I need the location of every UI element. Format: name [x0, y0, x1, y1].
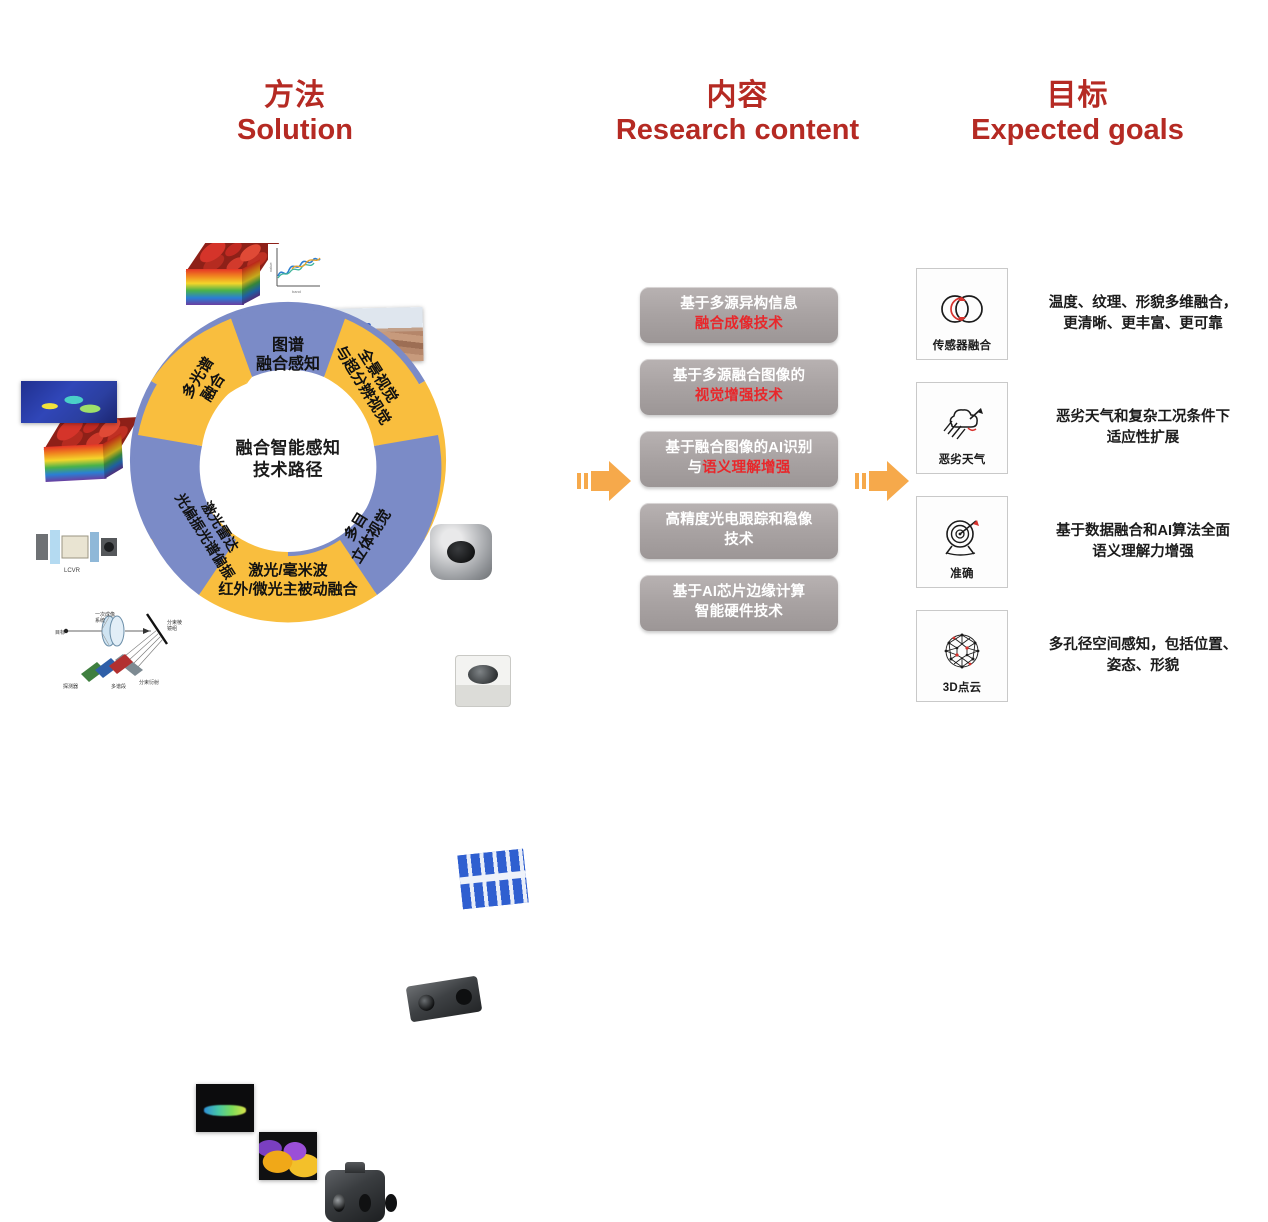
research-box-3-line2-prefix: 与 [688, 460, 703, 476]
gimbal-eo-ir-turret [325, 1170, 385, 1222]
sensor-fusion-icon [936, 278, 988, 341]
optical-lab-instrument [455, 655, 511, 707]
goal-desc-sensor-fusion: 温度、纹理、形貌多维融合， 更清晰、更丰富、更可靠 [1008, 293, 1256, 334]
goal-desc-4-line1: 多孔径空间感知，包括位置、 [1049, 637, 1238, 653]
column-header-solution-en: Solution [165, 113, 425, 147]
column-header-goals-en: Expected goals [945, 113, 1210, 147]
research-box-3-line1: 基于融合图像的AI识别 [665, 440, 812, 456]
donut-center-label: 融合智能感知 技术路径 [198, 438, 378, 483]
spectral-curve-plot: value band [268, 244, 324, 296]
goal-row-sensor-fusion: 传感器融合 温度、纹理、形貌多维融合， 更清晰、更丰富、更可靠 [916, 268, 1256, 360]
arrow-solution-to-content [575, 458, 633, 504]
donut-center-line2: 技术路径 [198, 460, 378, 482]
donut-label-tupu-line2: 融合感知 [256, 354, 320, 373]
research-content-list: 基于多源异构信息 融合成像技术 基于多源融合图像的 视觉增强技术 基于融合图像的… [640, 287, 838, 647]
goal-card-caption: 传感器融合 [933, 341, 992, 353]
svg-text:分束衍射: 分束衍射 [139, 679, 159, 686]
goal-card-caption: 恶劣天气 [939, 455, 986, 467]
polarization-optics-assembly: LCVR [30, 520, 124, 574]
stereo-camera-bar [406, 976, 483, 1023]
donut-label-tupu-line1: 图谱 [272, 335, 304, 354]
column-header-goals: 目标 Expected goals [945, 78, 1210, 148]
blue-microchip-array [457, 849, 528, 910]
hyperspectral-cube-top [186, 243, 260, 305]
research-box-3-line2: 语义理解增强 [702, 460, 790, 476]
svg-text:LCVR: LCVR [64, 568, 81, 574]
goal-desc-2-line2: 适应性扩展 [1107, 430, 1180, 446]
research-box-4-line1: 高精度光电跟踪和稳像 [666, 512, 813, 528]
column-header-solution-cn: 方法 [165, 78, 425, 113]
goal-desc-3-line1: 基于数据融合和AI算法全面 [1056, 523, 1230, 539]
research-box-2-line1: 基于多源融合图像的 [673, 368, 805, 384]
lidar-pointcloud-night-b [259, 1132, 317, 1180]
goal-desc-2-line1: 恶劣天气和复杂工况条件下 [1056, 409, 1230, 425]
hyperspectral-cube-left [42, 418, 123, 482]
column-header-content: 内容 Research content [600, 78, 875, 148]
goal-desc-accuracy: 基于数据融合和AI算法全面 语义理解力增强 [1008, 521, 1256, 562]
column-header-content-cn: 内容 [600, 78, 875, 113]
svg-text:目标: 目标 [55, 629, 65, 636]
goal-card-sensor-fusion[interactable]: 传感器融合 [916, 268, 1008, 360]
goal-card-bad-weather[interactable]: 恶劣天气 [916, 382, 1008, 474]
goal-row-point-cloud: 3D点云 多孔径空间感知，包括位置、 姿态、形貌 [916, 610, 1256, 702]
research-box-fusion-imaging[interactable]: 基于多源异构信息 融合成像技术 [640, 287, 838, 343]
column-header-content-en: Research content [600, 113, 875, 147]
research-box-1-line2: 融合成像技术 [695, 316, 783, 332]
goal-desc-1-line2: 更清晰、更丰富、更可靠 [1063, 316, 1223, 332]
svg-text:系统: 系统 [95, 617, 105, 624]
solution-donut-chart: 图谱 融合感知 全景视觉 与超分辨视觉 多目 立体视觉 激光/毫米波 红外/微光… [128, 300, 448, 620]
svg-text:分束棱: 分束棱 [167, 619, 182, 626]
research-box-ai-recognition[interactable]: 基于融合图像的AI识别 与语义理解增强 [640, 431, 838, 487]
research-box-4-line2: 技术 [724, 532, 753, 548]
goal-card-point-cloud[interactable]: 3D点云 [916, 610, 1008, 702]
column-header-solution: 方法 Solution [165, 78, 425, 148]
svg-text:一次成像: 一次成像 [95, 611, 115, 618]
expected-goals-list: 传感器融合 温度、纹理、形貌多维融合， 更清晰、更丰富、更可靠 [916, 268, 1256, 724]
svg-text:多谱段: 多谱段 [111, 683, 126, 690]
goal-row-bad-weather: 恶劣天气 恶劣天气和复杂工况条件下 适应性扩展 [916, 382, 1256, 474]
goal-card-caption: 3D点云 [943, 683, 982, 695]
target-accuracy-icon [938, 506, 986, 569]
research-box-1-line1: 基于多源异构信息 [680, 296, 798, 312]
point-cloud-icon [940, 620, 984, 683]
lidar-pointcloud-night-a [196, 1084, 254, 1132]
research-box-5-line2: 智能硬件技术 [695, 604, 783, 620]
goal-card-accuracy[interactable]: 准确 [916, 496, 1008, 588]
research-box-ai-edge-hardware[interactable]: 基于AI芯片边缘计算 智能硬件技术 [640, 575, 838, 631]
goal-desc-bad-weather: 恶劣天气和复杂工况条件下 适应性扩展 [1008, 407, 1256, 448]
donut-label-laser-line1: 激光/毫米波 [248, 561, 328, 579]
svg-text:band: band [292, 289, 301, 294]
arrow-content-to-goals [853, 458, 911, 504]
goal-desc-point-cloud: 多孔径空间感知，包括位置、 姿态、形貌 [1008, 635, 1256, 676]
research-box-5-line1: 基于AI芯片边缘计算 [673, 584, 806, 600]
goal-row-accuracy: 准确 基于数据融合和AI算法全面 语义理解力增强 [916, 496, 1256, 588]
goal-card-caption: 准确 [950, 569, 973, 581]
donut-label-laser-line2: 红外/微光主被动融合 [218, 580, 358, 598]
goal-desc-3-line2: 语义理解力增强 [1092, 544, 1194, 560]
column-header-goals-cn: 目标 [945, 78, 1210, 113]
donut-center-line1: 融合智能感知 [198, 438, 378, 460]
svg-text:value: value [268, 262, 273, 272]
research-box-eo-tracking[interactable]: 高精度光电跟踪和稳像 技术 [640, 503, 838, 559]
bad-weather-icon [938, 392, 986, 455]
svg-text:镜组: 镜组 [167, 625, 177, 632]
research-box-visual-enhancement[interactable]: 基于多源融合图像的 视觉增强技术 [640, 359, 838, 415]
goal-desc-1-line1: 温度、纹理、形貌多维融合， [1049, 295, 1238, 311]
goal-desc-4-line2: 姿态、形貌 [1107, 658, 1180, 674]
research-box-2-line2: 视觉增强技术 [695, 388, 783, 404]
thermal-infrared-image [21, 381, 117, 423]
svg-text:探测器: 探测器 [63, 683, 78, 690]
